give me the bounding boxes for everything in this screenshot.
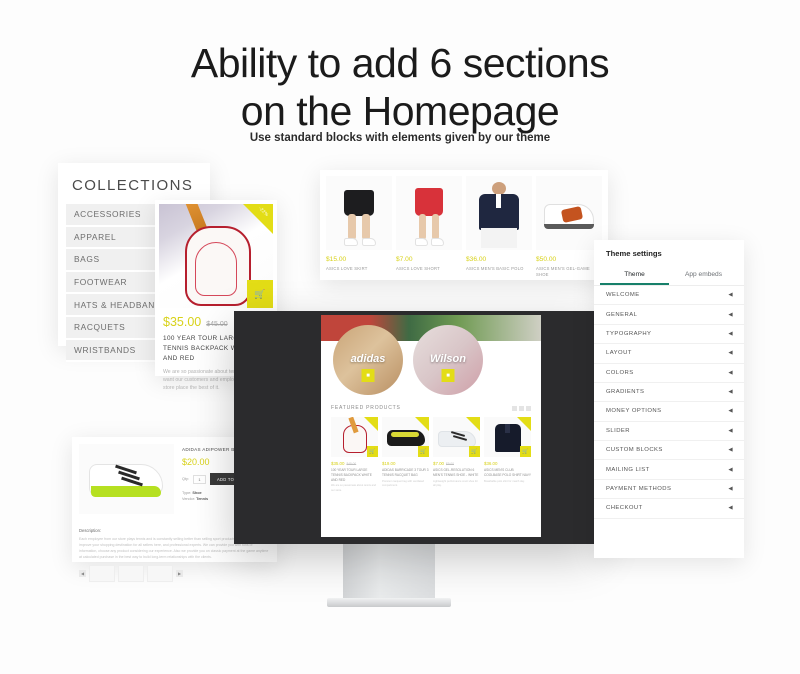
strip-product-name-1: ASICS LOVE SHORT bbox=[396, 266, 462, 272]
thumbnail-strip: ◀ ▶ bbox=[79, 565, 277, 582]
page-title: Ability to add 6 sections on the Homepag… bbox=[0, 40, 800, 135]
featured-cart-icon-3[interactable]: 🛒 bbox=[520, 446, 531, 457]
theme-settings-panel: Theme settings Theme App embeds WELCOME◀… bbox=[594, 240, 744, 558]
brand-badge-icon-wilson[interactable]: ■ bbox=[442, 369, 455, 382]
carousel-controls[interactable] bbox=[512, 406, 531, 411]
thumbnail-1[interactable] bbox=[118, 565, 144, 582]
settings-label-colors: COLORS bbox=[606, 370, 634, 376]
strip-product-1[interactable]: $7.00 ASICS LOVE SHORT bbox=[396, 176, 462, 279]
monitor-screen: adidas ■ Wilson ■ FEATURED PRODUCTS bbox=[321, 315, 541, 537]
strip-product-name-2: ASICS MEN'S BASIC POLO bbox=[466, 266, 532, 272]
featured-image-1: 🛒 bbox=[382, 417, 429, 457]
quantity-stepper[interactable]: 1 bbox=[193, 475, 206, 484]
featured-image-0: 🛒 bbox=[331, 417, 378, 457]
settings-label-payment-methods: PAYMENT METHODS bbox=[606, 486, 671, 492]
settings-row-gradients[interactable]: GRADIENTS◀ bbox=[594, 383, 744, 402]
featured-price-2: $7.00$9.00 bbox=[433, 461, 480, 466]
strip-product-name-0: ASICS LOVE SKIRT bbox=[326, 266, 392, 272]
featured-desc-3: Breathable polo shirt for match day. bbox=[484, 480, 531, 484]
featured-cart-icon-0[interactable]: 🛒 bbox=[367, 446, 378, 457]
settings-label-welcome: WELCOME bbox=[606, 292, 640, 298]
featured-product-3[interactable]: 🛒 $36.00 ASICS MEN'S CLUB COOLBASE POLO … bbox=[484, 417, 531, 493]
chevron-right-icon[interactable]: ◀ bbox=[728, 350, 733, 356]
featured-image-3: 🛒 bbox=[484, 417, 531, 457]
featured-name-1: ADIDAS BARRICADE 3 TOUR 3 TENNIS RACQUET… bbox=[382, 468, 429, 478]
theme-settings-tabs: Theme App embeds bbox=[594, 267, 744, 285]
featured-price-3: $36.00 bbox=[484, 461, 531, 466]
page-subtitle: Use standard blocks with elements given … bbox=[0, 132, 800, 144]
settings-label-mailing-list: MAILING LIST bbox=[606, 467, 650, 473]
chevron-right-icon[interactable]: ◀ bbox=[728, 312, 733, 318]
chevron-right-icon[interactable]: ◀ bbox=[728, 389, 733, 395]
strip-product-price-1: $7.00 bbox=[396, 256, 462, 263]
carousel-dot-1[interactable] bbox=[519, 406, 524, 411]
featured-cart-icon-2[interactable]: 🛒 bbox=[469, 446, 480, 457]
price-current: $35.00 bbox=[163, 315, 201, 329]
featured-grid: 🛒 $35.00$45.00 100 YEAR TOUR LARGE TENNI… bbox=[321, 411, 541, 493]
settings-label-custom-blocks: CUSTOM BLOCKS bbox=[606, 447, 663, 453]
thumbnail-0[interactable] bbox=[89, 565, 115, 582]
discount-triangle-0 bbox=[364, 417, 378, 431]
strip-product-price-0: $15.00 bbox=[326, 256, 392, 263]
product-detail-image bbox=[79, 444, 174, 514]
type-label: Type: bbox=[182, 491, 191, 495]
settings-row-custom-blocks[interactable]: CUSTOM BLOCKS◀ bbox=[594, 441, 744, 460]
brand-name-wilson: Wilson bbox=[413, 353, 483, 365]
settings-row-colors[interactable]: COLORS◀ bbox=[594, 364, 744, 383]
price-original: $45.00 bbox=[206, 321, 227, 328]
carousel-dot-0[interactable] bbox=[512, 406, 517, 411]
discount-triangle-3 bbox=[517, 417, 531, 431]
carousel-dot-2[interactable] bbox=[526, 406, 531, 411]
add-to-cart-icon-button[interactable]: 🛒 bbox=[247, 280, 273, 308]
strip-product-image-2 bbox=[466, 176, 532, 250]
featured-name-0: 100 YEAR TOUR LARGE TENNIS BACKPACK WHIT… bbox=[331, 468, 378, 482]
strip-product-2[interactable]: $36.00 ASICS MEN'S BASIC POLO bbox=[466, 176, 532, 279]
chevron-right-icon[interactable]: ◀ bbox=[728, 408, 733, 414]
product-strip-list: $15.00 ASICS LOVE SKIRT $7.00 ASICS LOVE… bbox=[320, 170, 608, 285]
settings-row-welcome[interactable]: WELCOME◀ bbox=[594, 286, 744, 305]
featured-desc-0: We are so passionate about tennis and ou… bbox=[331, 484, 378, 492]
chevron-right-icon[interactable]: ◀ bbox=[728, 467, 733, 473]
strip-product-image-1 bbox=[396, 176, 462, 250]
featured-image-2: 🛒 bbox=[433, 417, 480, 457]
settings-label-slider: SLIDER bbox=[606, 428, 630, 434]
settings-row-general[interactable]: GENERAL◀ bbox=[594, 305, 744, 324]
product-image-backpack: -22% 🛒 bbox=[159, 204, 273, 308]
featured-name-2: ASICS GEL-RESOLUTION 6 MEN'S TENNIS SHOE… bbox=[433, 468, 480, 478]
page-title-line2: on the Homepage bbox=[0, 88, 800, 136]
page-title-line1: Ability to add 6 sections bbox=[0, 40, 800, 88]
featured-price-0: $35.00$45.00 bbox=[331, 461, 378, 466]
strip-product-image-3 bbox=[536, 176, 602, 250]
settings-label-typography: TYPOGRAPHY bbox=[606, 331, 651, 337]
settings-row-mailing-list[interactable]: MAILING LIST◀ bbox=[594, 460, 744, 479]
strip-product-0[interactable]: $15.00 ASICS LOVE SKIRT bbox=[326, 176, 392, 279]
monitor-stand-neck bbox=[343, 544, 435, 602]
featured-product-0[interactable]: 🛒 $35.00$45.00 100 YEAR TOUR LARGE TENNI… bbox=[331, 417, 378, 493]
tab-app-embeds[interactable]: App embeds bbox=[669, 267, 738, 285]
settings-row-typography[interactable]: TYPOGRAPHY◀ bbox=[594, 325, 744, 344]
brand-badge-icon-adidas[interactable]: ■ bbox=[362, 369, 375, 382]
chevron-right-icon[interactable]: ◀ bbox=[728, 370, 733, 376]
settings-row-layout[interactable]: LAYOUT◀ bbox=[594, 344, 744, 363]
thumbnail-2[interactable] bbox=[147, 565, 173, 582]
chevron-right-icon[interactable]: ◀ bbox=[728, 486, 733, 492]
chevron-right-icon[interactable]: ◀ bbox=[728, 428, 733, 434]
featured-product-2[interactable]: 🛒 $7.00$9.00 ASICS GEL-RESOLUTION 6 MEN'… bbox=[433, 417, 480, 493]
strip-product-image-0 bbox=[326, 176, 392, 250]
vendor-value: Tennis bbox=[196, 497, 208, 501]
backpack-graphic bbox=[185, 226, 251, 306]
theme-settings-title: Theme settings bbox=[594, 240, 744, 258]
collections-title: COLLECTIONS bbox=[58, 163, 210, 204]
brand-name-adidas: adidas bbox=[333, 353, 403, 365]
tab-theme[interactable]: Theme bbox=[600, 267, 669, 285]
strip-product-3[interactable]: $50.00 ASICS MEN'S GEL-GAME SHOE bbox=[536, 176, 602, 279]
featured-desc-1: Premium racquet bag with ventilated comp… bbox=[382, 480, 429, 488]
thumbs-prev-icon[interactable]: ◀ bbox=[79, 570, 86, 577]
discount-triangle-1 bbox=[415, 417, 429, 431]
type-value: Shoe bbox=[192, 491, 201, 495]
discount-triangle-2 bbox=[466, 417, 480, 431]
settings-label-general: GENERAL bbox=[606, 312, 637, 318]
featured-desc-2: Lightweight performance court shoe for a… bbox=[433, 480, 480, 488]
featured-cart-icon-1[interactable]: 🛒 bbox=[418, 446, 429, 457]
product-strip: $15.00 ASICS LOVE SKIRT $7.00 ASICS LOVE… bbox=[320, 170, 608, 280]
settings-row-slider[interactable]: SLIDER◀ bbox=[594, 422, 744, 441]
monitor-stand-base bbox=[327, 598, 451, 607]
featured-title: FEATURED PRODUCTS bbox=[331, 405, 401, 411]
settings-row-payment-methods[interactable]: PAYMENT METHODS◀ bbox=[594, 480, 744, 499]
monitor-bezel: adidas ■ Wilson ■ FEATURED PRODUCTS bbox=[234, 311, 597, 544]
strip-product-price-3: $50.00 bbox=[536, 256, 602, 263]
brand-tile-adidas[interactable]: adidas ■ bbox=[333, 325, 403, 395]
featured-name-3: ASICS MEN'S CLUB COOLBASE POLO SHIRT NAV… bbox=[484, 468, 531, 478]
settings-row-money-options[interactable]: MONEY OPTIONS◀ bbox=[594, 402, 744, 421]
theme-settings-rows: WELCOME◀ GENERAL◀ TYPOGRAPHY◀ LAYOUT◀ CO… bbox=[594, 285, 744, 519]
chevron-right-icon[interactable]: ◀ bbox=[728, 447, 733, 453]
thumbs-next-icon[interactable]: ▶ bbox=[176, 570, 183, 577]
quantity-label: Qty: bbox=[182, 477, 189, 481]
settings-row-checkout[interactable]: CHECKOUT◀ bbox=[594, 499, 744, 518]
promo-stage: Ability to add 6 sections on the Homepag… bbox=[0, 0, 800, 674]
chevron-right-icon[interactable]: ◀ bbox=[728, 505, 733, 511]
strip-product-name-3: ASICS MEN'S GEL-GAME SHOE bbox=[536, 266, 602, 279]
chevron-right-icon[interactable]: ◀ bbox=[728, 292, 733, 298]
strip-product-price-2: $36.00 bbox=[466, 256, 532, 263]
brand-tiles: adidas ■ Wilson ■ bbox=[321, 325, 541, 395]
settings-label-money-options: MONEY OPTIONS bbox=[606, 408, 662, 414]
settings-label-checkout: CHECKOUT bbox=[606, 505, 643, 511]
settings-label-layout: LAYOUT bbox=[606, 350, 632, 356]
vendor-label: Vendor: bbox=[182, 497, 195, 501]
featured-header: FEATURED PRODUCTS bbox=[321, 395, 541, 411]
chevron-right-icon[interactable]: ◀ bbox=[728, 331, 733, 337]
settings-label-gradients: GRADIENTS bbox=[606, 389, 644, 395]
featured-price-1: $19.00 bbox=[382, 461, 429, 466]
brand-tile-wilson[interactable]: Wilson ■ bbox=[413, 325, 483, 395]
featured-product-1[interactable]: 🛒 $19.00 ADIDAS BARRICADE 3 TOUR 3 TENNI… bbox=[382, 417, 429, 493]
